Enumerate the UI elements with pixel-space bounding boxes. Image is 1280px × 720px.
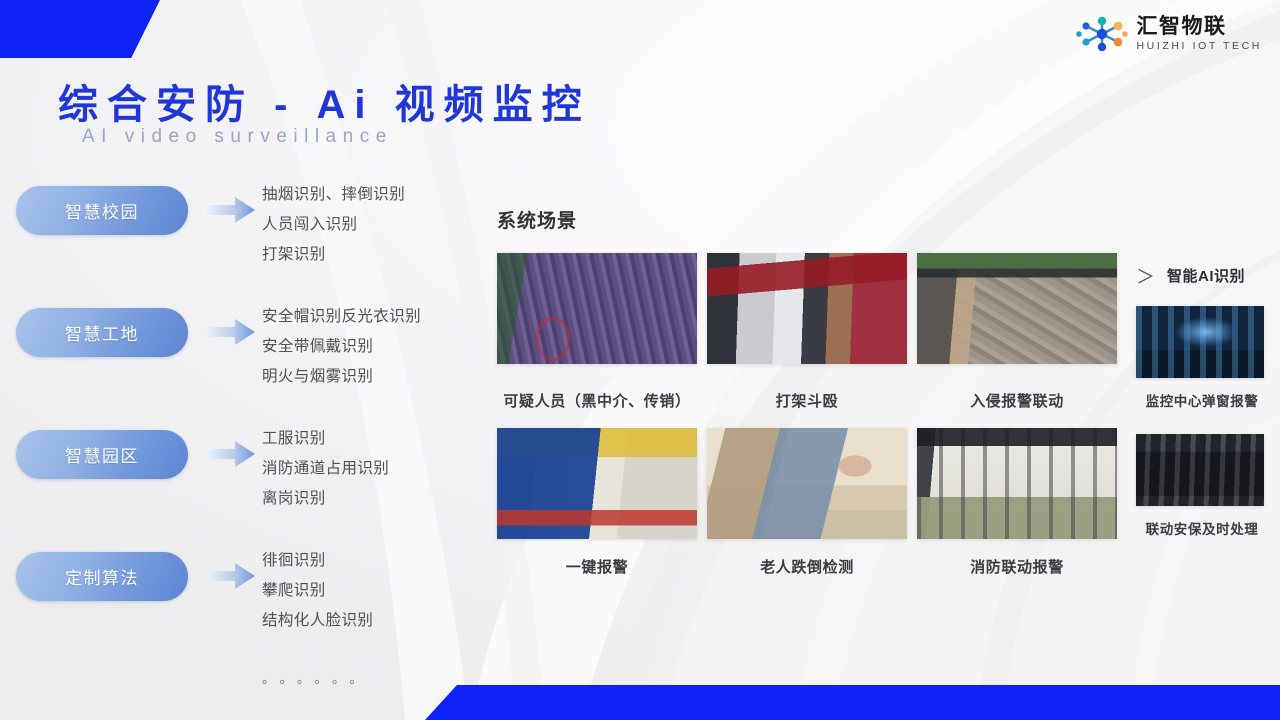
control-room-popup-alarm-photo [1136,306,1264,378]
page-title: 综合安防 - Ai 视频监控 [58,72,591,130]
category-block-0: 智慧校园 抽烟识别、摔倒识别 人员闯入识别 打架识别 [0,186,470,308]
side-caption-0: 监控中心弹窗报警 [1130,390,1274,410]
category-list: 智慧校园 抽烟识别、摔倒识别 人员闯入识别 打架识别 智慧工地 [0,186,470,674]
category-item: 明火与烟雾识别 [262,362,472,392]
category-item: 安全帽识别反光衣识别 [262,302,472,332]
chevron-right-icon: ＞ [1136,262,1155,289]
category-pill-label-1: 智慧工地 [65,320,139,345]
category-pill-1[interactable]: 智慧工地 [16,308,188,357]
fire-control-panel-photo [917,428,1117,539]
ai-recognition-row: ＞ 智能AI识别 [1136,262,1245,289]
category-items-0: 抽烟识别、摔倒识别 人员闯入识别 打架识别 [262,180,472,270]
side-thumb-1[interactable] [1136,434,1264,506]
right-arrow-icon [206,562,256,590]
category-item: 结构化人脸识别 [262,606,472,636]
scene-caption-4: 老人跌倒检测 [707,556,907,577]
category-pill-label-0: 智慧校园 [65,198,139,223]
bottom-blue-bar [0,685,1280,720]
category-items-3: 徘徊识别 攀爬识别 结构化人脸识别 [262,546,472,636]
category-item: 离岗识别 [262,484,472,514]
scene-thumb-4[interactable] [707,428,907,539]
category-item: 徘徊识别 [262,546,472,576]
side-caption-1: 联动安保及时处理 [1130,518,1274,538]
scene-thumb-0[interactable] [497,253,697,364]
right-arrow-icon [206,196,256,224]
logo-name-cn: 汇智物联 [1136,16,1262,37]
emergency-call-pillar-photo [497,428,697,539]
category-block-1: 智慧工地 安全帽识别反光衣识别 安全带佩戴识别 明火与烟雾识别 [0,308,470,430]
category-pill-label-2: 智慧园区 [65,442,139,467]
security-guards-lineup-photo [1136,434,1264,506]
molecule-network-logo-icon [1076,14,1128,54]
category-pill-3[interactable]: 定制算法 [16,552,188,601]
scene-thumb-5[interactable] [917,428,1117,539]
category-item: 消防通道占用识别 [262,454,472,484]
category-pill-0[interactable]: 智慧校园 [16,186,188,235]
category-item: 安全带佩戴识别 [262,332,472,362]
category-pill-label-3: 定制算法 [65,564,139,589]
scene-thumb-1[interactable] [707,253,907,364]
side-thumb-0[interactable] [1136,306,1264,378]
page-subtitle: AI video surveillance [82,126,393,148]
panel-title: 系统场景 [497,206,577,233]
street-crowd-surveillance-photo [497,253,697,364]
ai-recognition-label: 智能AI识别 [1167,265,1245,286]
category-pill-2[interactable]: 智慧园区 [16,430,188,479]
category-block-2: 智慧园区 工服识别 消防通道占用识别 离岗识别 [0,430,470,552]
wall-climbing-intrusion-photo [917,253,1117,364]
category-item: 工服识别 [262,424,472,454]
top-left-blue-accent [0,0,160,58]
scene-caption-0: 可疑人员（黑中介、传销） [497,390,697,411]
category-item: 抽烟识别、摔倒识别 [262,180,472,210]
scene-caption-3: 一键报警 [497,556,697,577]
category-item: 人员闯入识别 [262,210,472,240]
category-item: 打架识别 [262,240,472,270]
category-items-2: 工服识别 消防通道占用识别 离岗识别 [262,424,472,514]
category-item: 攀爬识别 [262,576,472,606]
right-arrow-icon [206,440,256,468]
brand-logo: 汇智物联 HUIZHI IOT TECH [1076,14,1262,54]
elderly-fall-photo [707,428,907,539]
scene-thumb-3[interactable] [497,428,697,539]
scene-caption-5: 消防联动报警 [917,556,1117,577]
scene-thumb-2[interactable] [917,253,1117,364]
ellipsis-dots: 。。。。。。 [262,668,374,687]
street-fight-photo [707,253,907,364]
logo-text-block: 汇智物联 HUIZHI IOT TECH [1136,16,1262,52]
category-block-3: 定制算法 徘徊识别 攀爬识别 结构化人脸识别 [0,552,470,674]
scene-caption-1: 打架斗殴 [707,390,907,411]
category-items-1: 安全帽识别反光衣识别 安全带佩戴识别 明火与烟雾识别 [262,302,472,392]
logo-name-en: HUIZHI IOT TECH [1136,41,1262,52]
slide-root: 综合安防 - Ai 视频监控 AI video surveillance 汇智 [0,0,1280,720]
right-arrow-icon [206,318,256,346]
scene-caption-2: 入侵报警联动 [917,390,1117,411]
